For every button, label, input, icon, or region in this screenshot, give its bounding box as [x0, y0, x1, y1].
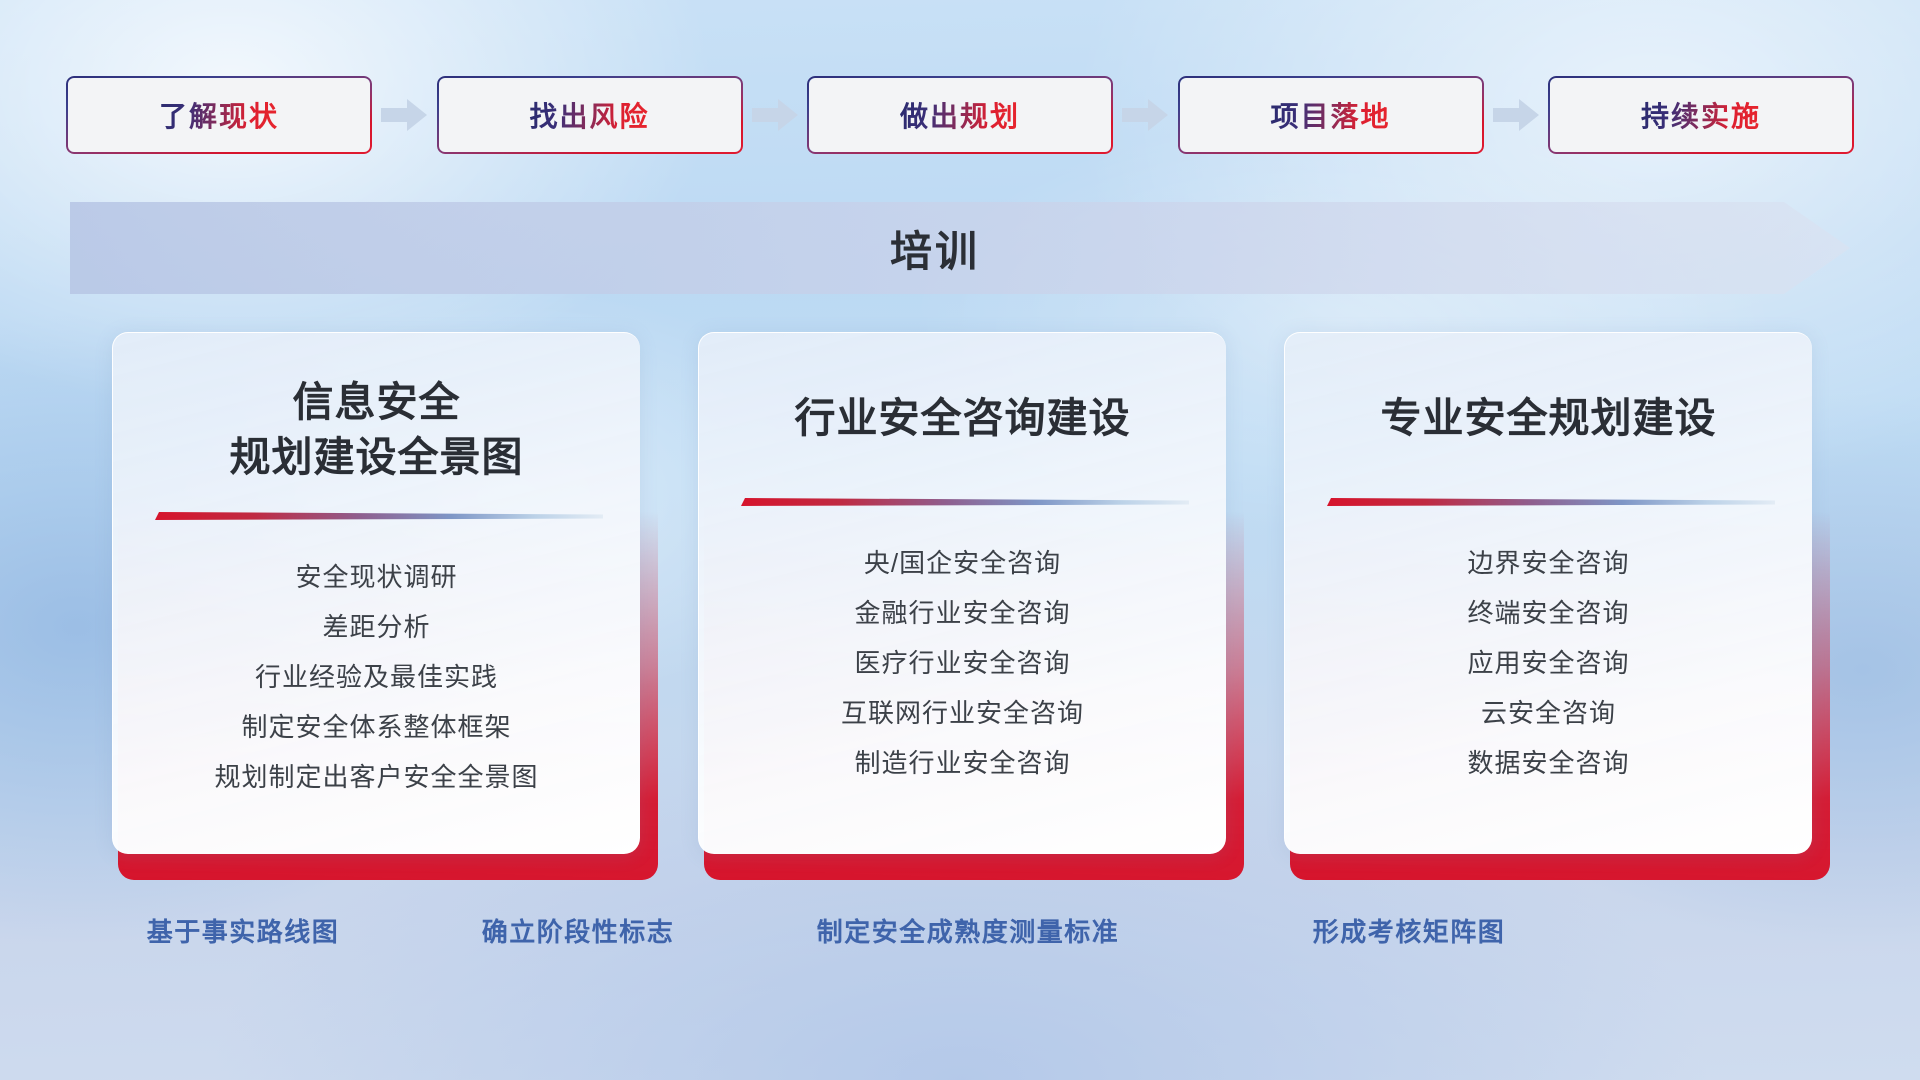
card-title: 信息安全 规划建设全景图	[230, 375, 524, 484]
caption-1: 基于事实路线图	[147, 912, 340, 949]
list-item: 规划制定出客户安全全景图	[214, 752, 538, 802]
card-2[interactable]: 行业安全咨询建设	[698, 332, 1238, 880]
training-banner: 培训	[70, 202, 1850, 294]
arrow-right-icon	[378, 95, 430, 135]
list-item: 制定安全体系整体框架	[241, 702, 511, 752]
arrow-right-icon	[1490, 95, 1542, 135]
card-row: 信息安全 规划建设全景图	[112, 332, 1824, 880]
process-steps: 了解现状 找出风险 做出规划 项目落地 持续实施	[68, 78, 1852, 152]
step-label: 持续实施	[1641, 95, 1761, 135]
list-item: 差距分析	[322, 602, 430, 652]
card-title: 专业安全规划建设	[1381, 391, 1717, 446]
list-item: 安全现状调研	[295, 552, 457, 602]
caption-3: 制定安全成熟度测量标准	[817, 912, 1120, 949]
step-label: 了解现状	[159, 95, 279, 135]
step-box-3[interactable]: 做出规划	[809, 78, 1111, 152]
card-list: 央/国企安全咨询 金融行业安全咨询 医疗行业安全咨询 互联网行业安全咨询 制造行…	[841, 538, 1084, 788]
step-box-4[interactable]: 项目落地	[1180, 78, 1482, 152]
list-item: 行业经验及最佳实践	[255, 652, 498, 702]
card-divider-icon	[1323, 496, 1775, 508]
step-box-5[interactable]: 持续实施	[1550, 78, 1852, 152]
list-item: 云安全咨询	[1481, 688, 1616, 738]
list-item: 边界安全咨询	[1467, 538, 1629, 588]
step-label: 找出风险	[529, 95, 649, 135]
card-3[interactable]: 专业安全规划建设	[1284, 332, 1824, 880]
card-list: 边界安全咨询 终端安全咨询 应用安全咨询 云安全咨询 数据安全咨询	[1467, 538, 1629, 788]
caption-row: 基于事实路线图 确立阶段性标志 制定安全成熟度测量标准 形成考核矩阵图	[0, 912, 1920, 962]
caption-2: 确立阶段性标志	[482, 912, 675, 949]
arrow-right-icon	[1119, 95, 1171, 135]
card-1[interactable]: 信息安全 规划建设全景图	[112, 332, 652, 880]
banner-title: 培训	[70, 202, 1850, 294]
list-item: 互联网行业安全咨询	[841, 688, 1084, 738]
list-item: 央/国企安全咨询	[864, 538, 1061, 588]
card-divider-icon	[151, 510, 603, 522]
list-item: 数据安全咨询	[1467, 738, 1629, 788]
card-body: 信息安全 规划建设全景图	[112, 332, 640, 854]
card-divider-icon	[737, 496, 1189, 508]
card-body: 专业安全规划建设	[1284, 332, 1812, 854]
step-box-1[interactable]: 了解现状	[68, 78, 370, 152]
caption-4: 形成考核矩阵图	[1313, 912, 1506, 949]
card-body: 行业安全咨询建设	[698, 332, 1226, 854]
card-list: 安全现状调研 差距分析 行业经验及最佳实践 制定安全体系整体框架 规划制定出客户…	[214, 552, 538, 802]
arrow-right-icon	[749, 95, 801, 135]
step-label: 做出规划	[900, 95, 1020, 135]
list-item: 医疗行业安全咨询	[854, 638, 1070, 688]
list-item: 金融行业安全咨询	[854, 588, 1070, 638]
list-item: 应用安全咨询	[1467, 638, 1629, 688]
list-item: 制造行业安全咨询	[854, 738, 1070, 788]
list-item: 终端安全咨询	[1467, 588, 1629, 638]
card-title: 行业安全咨询建设	[795, 391, 1131, 446]
step-box-2[interactable]: 找出风险	[439, 78, 741, 152]
step-label: 项目落地	[1270, 95, 1390, 135]
